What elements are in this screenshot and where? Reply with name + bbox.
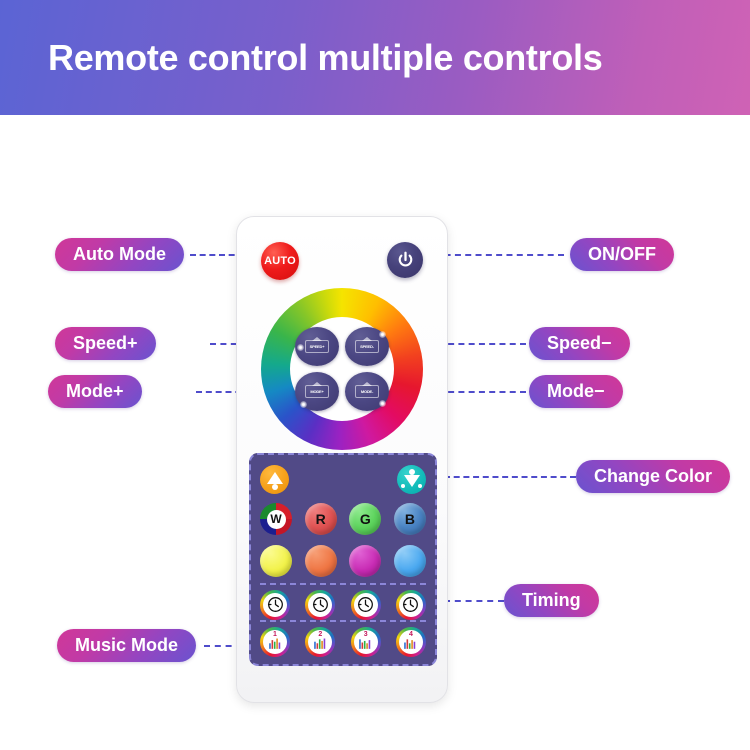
clock-icon: [308, 593, 332, 617]
equalizer-icon: 3: [354, 630, 378, 654]
callout-speed-minus[interactable]: Speed−: [529, 327, 630, 360]
timing-row: [260, 583, 426, 620]
brightness-up-button[interactable]: [260, 465, 289, 494]
music-button-label: 4: [409, 631, 413, 638]
callout-label: Timing: [522, 590, 581, 611]
speed-up-icon: SPEED+: [305, 340, 329, 353]
skyblue-color-button[interactable]: [394, 545, 426, 577]
callout-auto-mode[interactable]: Auto Mode: [55, 238, 184, 271]
timing-button-2[interactable]: [305, 590, 335, 620]
callout-music-mode[interactable]: Music Mode: [57, 629, 196, 662]
header-banner: Remote control multiple controls: [0, 0, 750, 115]
highlight-dot: [379, 400, 386, 407]
auto-button[interactable]: AUTO: [261, 242, 299, 280]
callout-label: Speed−: [547, 333, 612, 354]
callout-label: Mode+: [66, 381, 124, 402]
callout-change-color[interactable]: Change Color: [576, 460, 730, 493]
yellow-color-button[interactable]: [260, 545, 292, 577]
magenta-color-button[interactable]: [349, 545, 381, 577]
callout-mode-minus[interactable]: Mode−: [529, 375, 623, 408]
page-title: Remote control multiple controls: [48, 37, 602, 79]
lead-timing: [444, 600, 504, 602]
speed-plus-button[interactable]: SPEED+: [295, 327, 339, 366]
green-color-button[interactable]: G: [349, 503, 381, 535]
music-button-label: 3: [364, 631, 368, 638]
spark-dot: [409, 469, 415, 475]
color-button-label: B: [405, 511, 415, 527]
product-infographic: Remote control multiple controls Auto Mo…: [0, 0, 750, 750]
blue-color-button[interactable]: B: [394, 503, 426, 535]
callout-speed-plus[interactable]: Speed+: [55, 327, 156, 360]
equalizer-icon: 1: [263, 630, 287, 654]
music-button-4[interactable]: 4: [396, 627, 426, 657]
callout-label: Mode−: [547, 381, 605, 402]
music-button-label: 1: [273, 631, 277, 638]
speed-down-icon: SPEED-: [355, 340, 379, 353]
equalizer-icon: 4: [399, 630, 423, 654]
pad-button-label: SPEED+: [310, 345, 325, 349]
pad-button-label: SPEED-: [360, 345, 374, 349]
spark-dot: [418, 484, 422, 488]
equalizer-icon: 2: [308, 630, 332, 654]
pad-button-label: MODE+: [310, 390, 323, 394]
clock-icon: [399, 593, 423, 617]
clock-icon: [263, 593, 287, 617]
music-row: 1 2: [260, 620, 426, 658]
lead-change-color: [444, 476, 576, 478]
keypad-panel: W R G B: [249, 453, 437, 666]
callout-timing[interactable]: Timing: [504, 584, 599, 617]
speed-minus-button[interactable]: SPEED-: [345, 327, 389, 366]
music-button-label: 2: [318, 631, 322, 638]
music-button-1[interactable]: 1: [260, 627, 290, 657]
auto-label: AUTO: [264, 255, 296, 267]
color-button-label: R: [316, 511, 326, 527]
mode-down-icon: MODE-: [355, 385, 379, 398]
clock-icon: [354, 593, 378, 617]
color-button-label: G: [360, 511, 371, 527]
pad-button-group: SPEED+ SPEED- MODE+: [295, 327, 389, 411]
arrow-up-icon: [267, 472, 283, 484]
spark-dot: [272, 484, 278, 490]
color-row-secondary: [260, 540, 426, 582]
highlight-dot: [300, 401, 307, 408]
color-button-label: W: [267, 510, 286, 529]
color-wheel[interactable]: SPEED+ SPEED- MODE+: [261, 288, 423, 450]
callout-on-off[interactable]: ON/OFF: [570, 238, 674, 271]
music-button-3[interactable]: 3: [351, 627, 381, 657]
mode-up-icon: MODE+: [305, 385, 329, 398]
highlight-dot: [297, 344, 304, 351]
remote-control-body: AUTO SPEED+ SPEED-: [236, 216, 448, 703]
brightness-row: [260, 462, 426, 496]
orange-color-button[interactable]: [305, 545, 337, 577]
brightness-down-button[interactable]: [397, 465, 426, 494]
mode-plus-button[interactable]: MODE+: [295, 372, 339, 411]
callout-label: Speed+: [73, 333, 138, 354]
highlight-dot: [379, 331, 386, 338]
music-button-2[interactable]: 2: [305, 627, 335, 657]
timing-button-3[interactable]: [351, 590, 381, 620]
pad-button-label: MODE-: [361, 390, 373, 394]
red-color-button[interactable]: R: [305, 503, 337, 535]
timing-button-4[interactable]: [396, 590, 426, 620]
callout-label: Change Color: [594, 466, 712, 487]
spark-dot: [401, 484, 405, 488]
power-icon: [395, 250, 416, 271]
callout-mode-plus[interactable]: Mode+: [48, 375, 142, 408]
callout-label: ON/OFF: [588, 244, 656, 265]
color-row-wrgb: W R G B: [260, 498, 426, 540]
white-color-button[interactable]: W: [260, 503, 292, 535]
callout-label: Music Mode: [75, 635, 178, 656]
power-button[interactable]: [387, 242, 423, 278]
callout-label: Auto Mode: [73, 244, 166, 265]
mode-minus-button[interactable]: MODE-: [345, 372, 389, 411]
timing-button-1[interactable]: [260, 590, 290, 620]
